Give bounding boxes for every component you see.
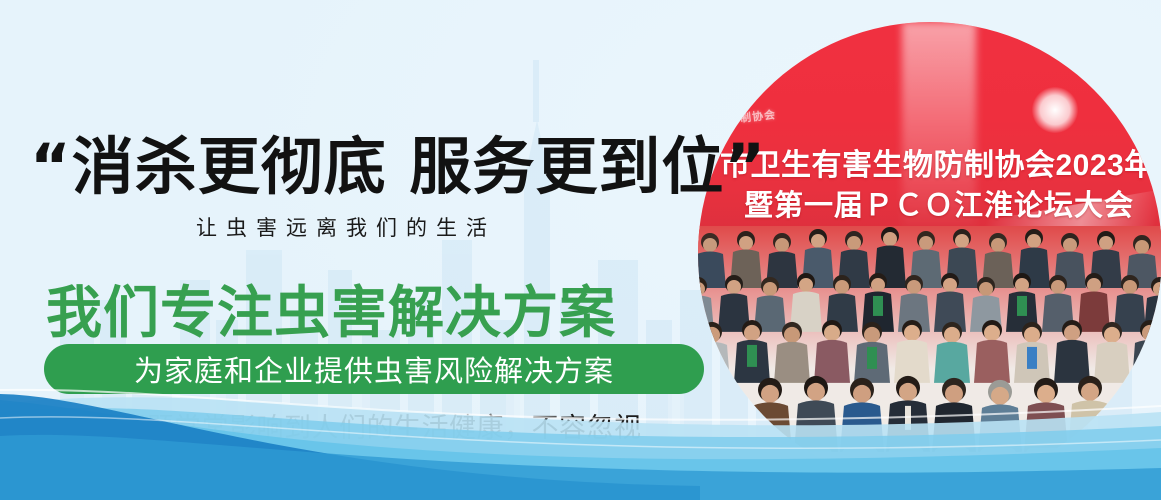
promotional-banner: 制协会 市卫生有害生物防制协会2023年会 暨第一届ＰＣＯ江淮论坛大会 [0, 0, 1161, 500]
main-headline: “消杀更彻底 服务更到位” [30, 116, 766, 206]
green-headline: 我们专注虫害解决方案 [46, 268, 616, 349]
stage-banner-title-line2: 暨第一届ＰＣＯ江淮论坛大会 [744, 182, 1134, 224]
stage-banner-title-line1: 市卫生有害生物防制协会2023年会 [720, 140, 1161, 184]
sub-headline: 让虫害远离我们的生活 [196, 212, 496, 242]
wave-decoration [0, 360, 1161, 500]
